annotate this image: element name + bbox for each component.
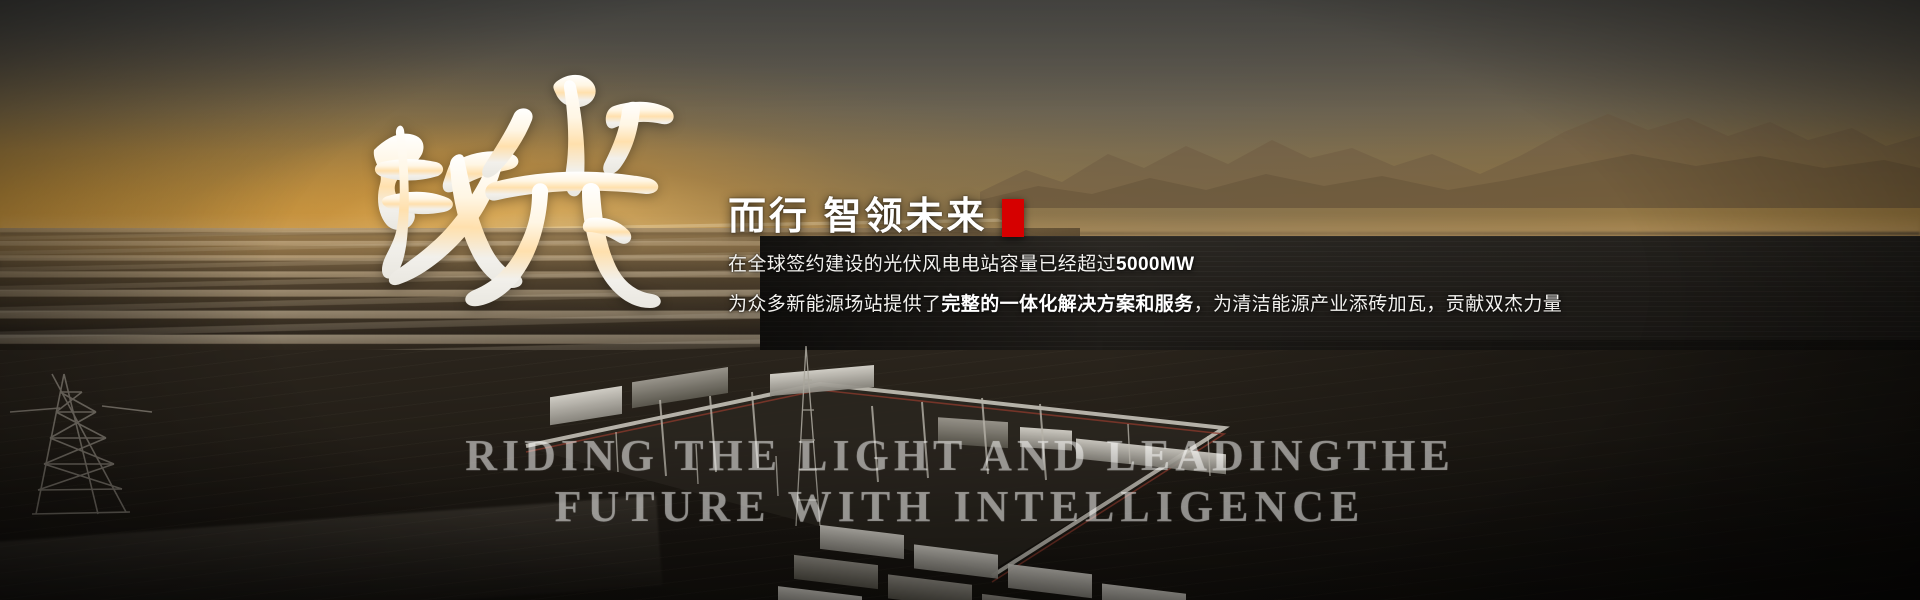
subtitle-line-2-prefix: 为众多新能源场站提供了	[728, 294, 941, 315]
subtitle-capacity-value: 5000MW	[1116, 254, 1194, 275]
subtitle-line-2: 为众多新能源场站提供了完整的一体化解决方案和服务，为清洁能源产业添砖加瓦，贡献双…	[728, 290, 1608, 320]
page-title: 而行 智领未来	[728, 196, 1608, 240]
subtitle-line-1: 在全球签约建设的光伏风电电站容量已经超过5000MW	[728, 250, 1608, 280]
transmission-tower	[6, 372, 156, 518]
mountain-range	[980, 96, 1920, 208]
subtitle-line-1-prefix: 在全球签约建设的光伏风电电站容量已经超过	[728, 254, 1116, 275]
headline-text: 而行 智领未来	[728, 196, 988, 240]
hero-banner: 而行 智领未来 在全球签约建设的光伏风电电站容量已经超过5000MW 为众多新能…	[0, 0, 1920, 600]
accent-block	[1002, 199, 1024, 237]
subtitle-line-2-suffix: ，为清洁能源产业添砖加瓦，贡献双杰力量	[1194, 294, 1563, 315]
banner-copy: 而行 智领未来 在全球签约建设的光伏风电电站容量已经超过5000MW 为众多新能…	[728, 196, 1608, 320]
subtitle-line-2-strong: 完整的一体化解决方案和服务	[941, 294, 1193, 315]
battery-storage-substation	[520, 340, 1300, 600]
